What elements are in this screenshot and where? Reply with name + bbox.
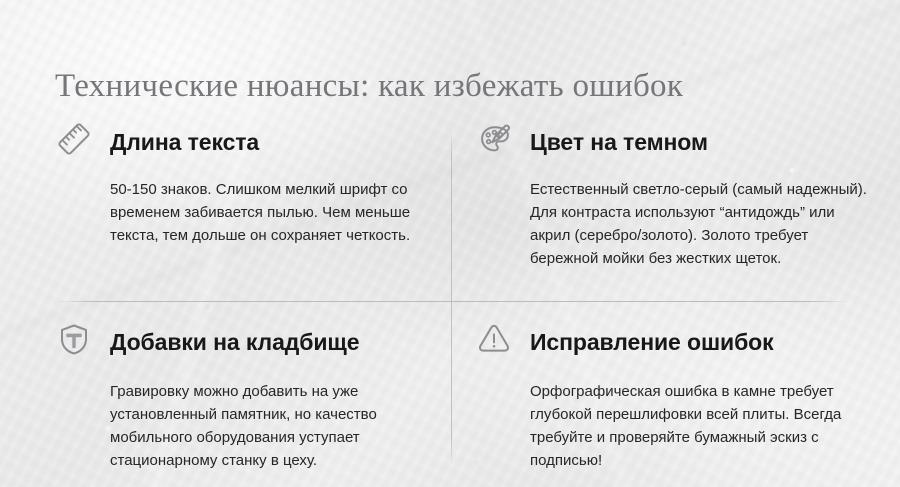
card-header: Цвет на темном bbox=[472, 120, 872, 164]
horizontal-divider bbox=[56, 301, 849, 302]
card-color-on-dark: Цвет на темном Естественный светло-серый… bbox=[472, 120, 872, 285]
shield-monument-icon bbox=[52, 317, 96, 361]
card-body: 50-150 знаков. Слишком мелкий шрифт со в… bbox=[110, 178, 432, 247]
card-header: Исправление ошибок bbox=[472, 320, 872, 364]
ruler-icon bbox=[52, 117, 96, 161]
card-body: Естественный светло-серый (самый надежны… bbox=[530, 178, 872, 270]
page-title: Технические нюансы: как избежать ошибок bbox=[55, 66, 683, 106]
card-title: Длина текста bbox=[110, 127, 259, 157]
palette-brush-icon bbox=[472, 117, 516, 161]
card-title: Исправление ошибок bbox=[530, 327, 774, 357]
card-title: Цвет на темном bbox=[530, 127, 708, 157]
card-cemetery-additions: Добавки на кладбище Гравировку можно доб… bbox=[52, 320, 432, 487]
card-body: Орфографическая ошибка в камне требует г… bbox=[530, 380, 872, 472]
card-body: Гравировку можно добавить на уже установ… bbox=[110, 380, 432, 472]
card-header: Добавки на кладбище bbox=[52, 320, 432, 364]
vertical-divider bbox=[451, 130, 452, 466]
card-error-correction: Исправление ошибок Орфографическая ошибк… bbox=[472, 320, 872, 487]
warning-triangle-icon bbox=[472, 317, 516, 361]
card-header: Длина текста bbox=[52, 120, 432, 164]
slide-canvas: Технические нюансы: как избежать ошибок … bbox=[0, 0, 900, 487]
card-text-length: Длина текста 50-150 знаков. Слишком мелк… bbox=[52, 120, 432, 262]
card-title: Добавки на кладбище bbox=[110, 327, 359, 357]
